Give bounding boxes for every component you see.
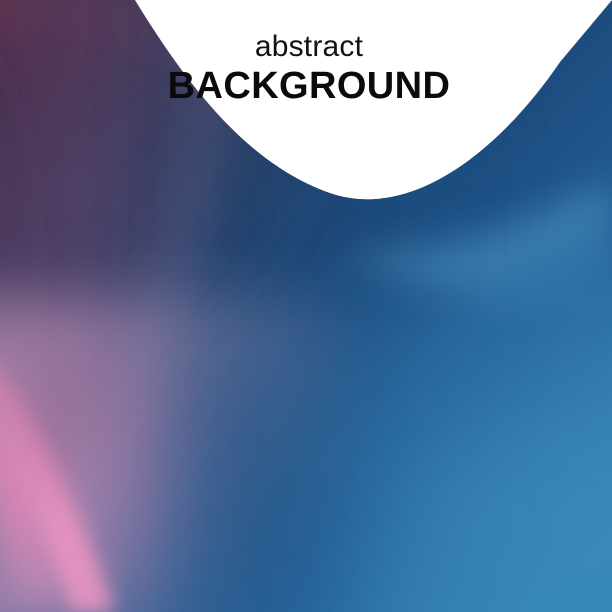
abstract-background-poster: abstract BACKGROUND <box>0 0 612 612</box>
abstract-wave-artwork <box>0 0 612 612</box>
